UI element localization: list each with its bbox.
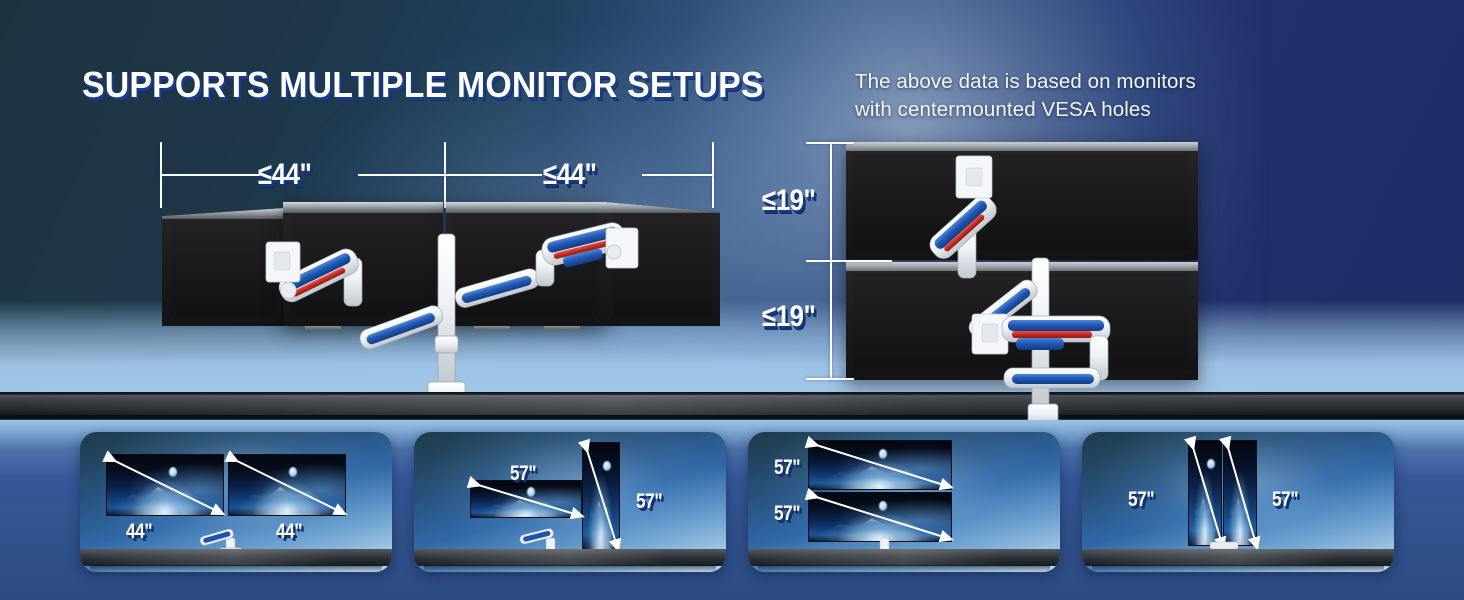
vesa-note: The above data is based on monitors with… [855, 68, 1315, 123]
panel-label-1b: 44" [276, 520, 302, 544]
panel-label-4a: 57" [1128, 488, 1154, 512]
thumb-desk [748, 549, 1060, 566]
thumb-desk-shadow [758, 565, 1050, 572]
panel-label-3b: 57" [774, 502, 800, 526]
panel-dual-portrait[interactable]: 57" 57" [1082, 432, 1394, 572]
panel-label-4b: 57" [1272, 488, 1298, 512]
desk-surface [0, 392, 1464, 422]
vesa-note-line-2: with centermounted VESA holes [855, 96, 1315, 124]
monitor-screen [170, 219, 276, 316]
dim-vrule-bottom [830, 262, 832, 380]
thumb-desk-shadow [90, 565, 382, 572]
page-title: SUPPORTS MULTIPLE MONITOR SETUPS [82, 64, 764, 106]
panel-label-1a: 44" [126, 520, 152, 544]
panel-dual-landscape-side-by-side[interactable]: 44" 44" [80, 432, 392, 572]
desk-front-face [0, 395, 1464, 415]
panel-label-2b: 57" [636, 490, 662, 514]
dim-rule-r1 [444, 174, 542, 176]
dimension-label-right-span: ≤44" [543, 158, 596, 192]
dimension-label-bottom-span: ≤19" [762, 300, 815, 334]
infographic-stage: SUPPORTS MULTIPLE MONITOR SETUPS The abo… [0, 0, 1464, 600]
panel-label-2a: 57" [510, 462, 536, 486]
thumb-desk [80, 549, 392, 566]
panel-label-3a: 57" [774, 456, 800, 480]
dim-vtick-mid [806, 260, 892, 262]
dim-rule-l2 [358, 174, 446, 176]
vesa-note-line-1: The above data is based on monitors [855, 68, 1315, 96]
dim-rule-r2 [642, 174, 714, 176]
panel-landscape-plus-portrait[interactable]: 57" 57" [414, 432, 726, 572]
dimension-label-left-span: ≤44" [258, 158, 311, 192]
monitor-bezel-top [446, 202, 606, 213]
dim-vtick-bottom [806, 378, 854, 380]
thumb-desk-shadow [424, 565, 716, 572]
dim-rule-l1 [160, 174, 260, 176]
dim-vtick-top [806, 142, 854, 144]
setup-thumbnail-panels: 44" 44" [0, 432, 1464, 572]
thumb-desk-shadow [1092, 565, 1384, 572]
thumb-desk [414, 549, 726, 566]
monitor-bezel-top [846, 142, 1198, 151]
monitor-bezel-top [283, 202, 443, 213]
thumb-desk [1082, 549, 1394, 566]
stacked-monitor-arm-assembly [920, 168, 1160, 428]
dim-vrule-top [830, 142, 832, 260]
panel-stacked-landscape[interactable]: 57" 57" [748, 432, 1060, 572]
dimension-label-top-span: ≤19" [762, 184, 815, 218]
